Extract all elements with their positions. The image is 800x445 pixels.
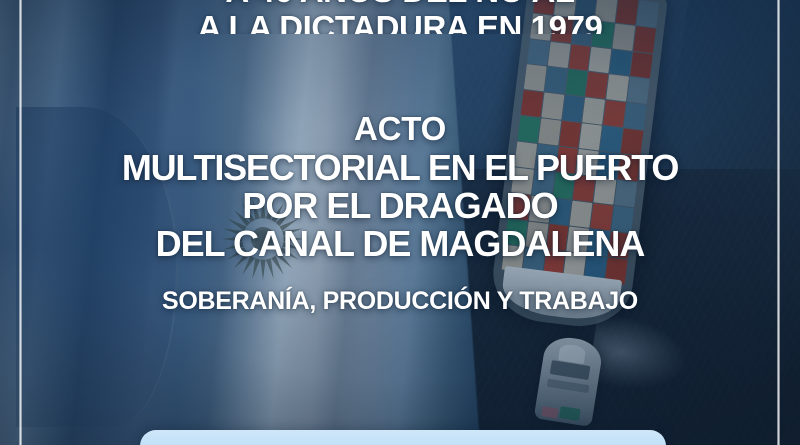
headline-line-top-2: A LA DICTADURA EN 1979	[0, 11, 800, 34]
bottom-rounded-panel	[140, 430, 666, 445]
headline-line-acto: ACTO	[0, 112, 800, 145]
headline-clipped-top: A 46 AÑOS DEL NO AL A LA DICTADURA EN 19…	[0, 0, 800, 34]
headline-main: ACTO MULTISECTORIAL EN EL PUERTO POR EL …	[0, 112, 800, 314]
headline-line-lema: SOBERANÍA, PRODUCCIÓN Y TRABAJO	[0, 289, 800, 314]
headline-line-por-el-dragado: POR EL DRAGADO	[0, 188, 800, 224]
headline-line-top-1: A 46 AÑOS DEL NO AL	[0, 0, 800, 7]
headline-line-multisectorial: MULTISECTORIAL EN EL PUERTO	[0, 150, 800, 186]
poster-canvas: A 46 AÑOS DEL NO AL A LA DICTADURA EN 19…	[0, 0, 800, 445]
headline-line-del-canal: DEL CANAL DE MAGDALENA	[0, 226, 800, 262]
